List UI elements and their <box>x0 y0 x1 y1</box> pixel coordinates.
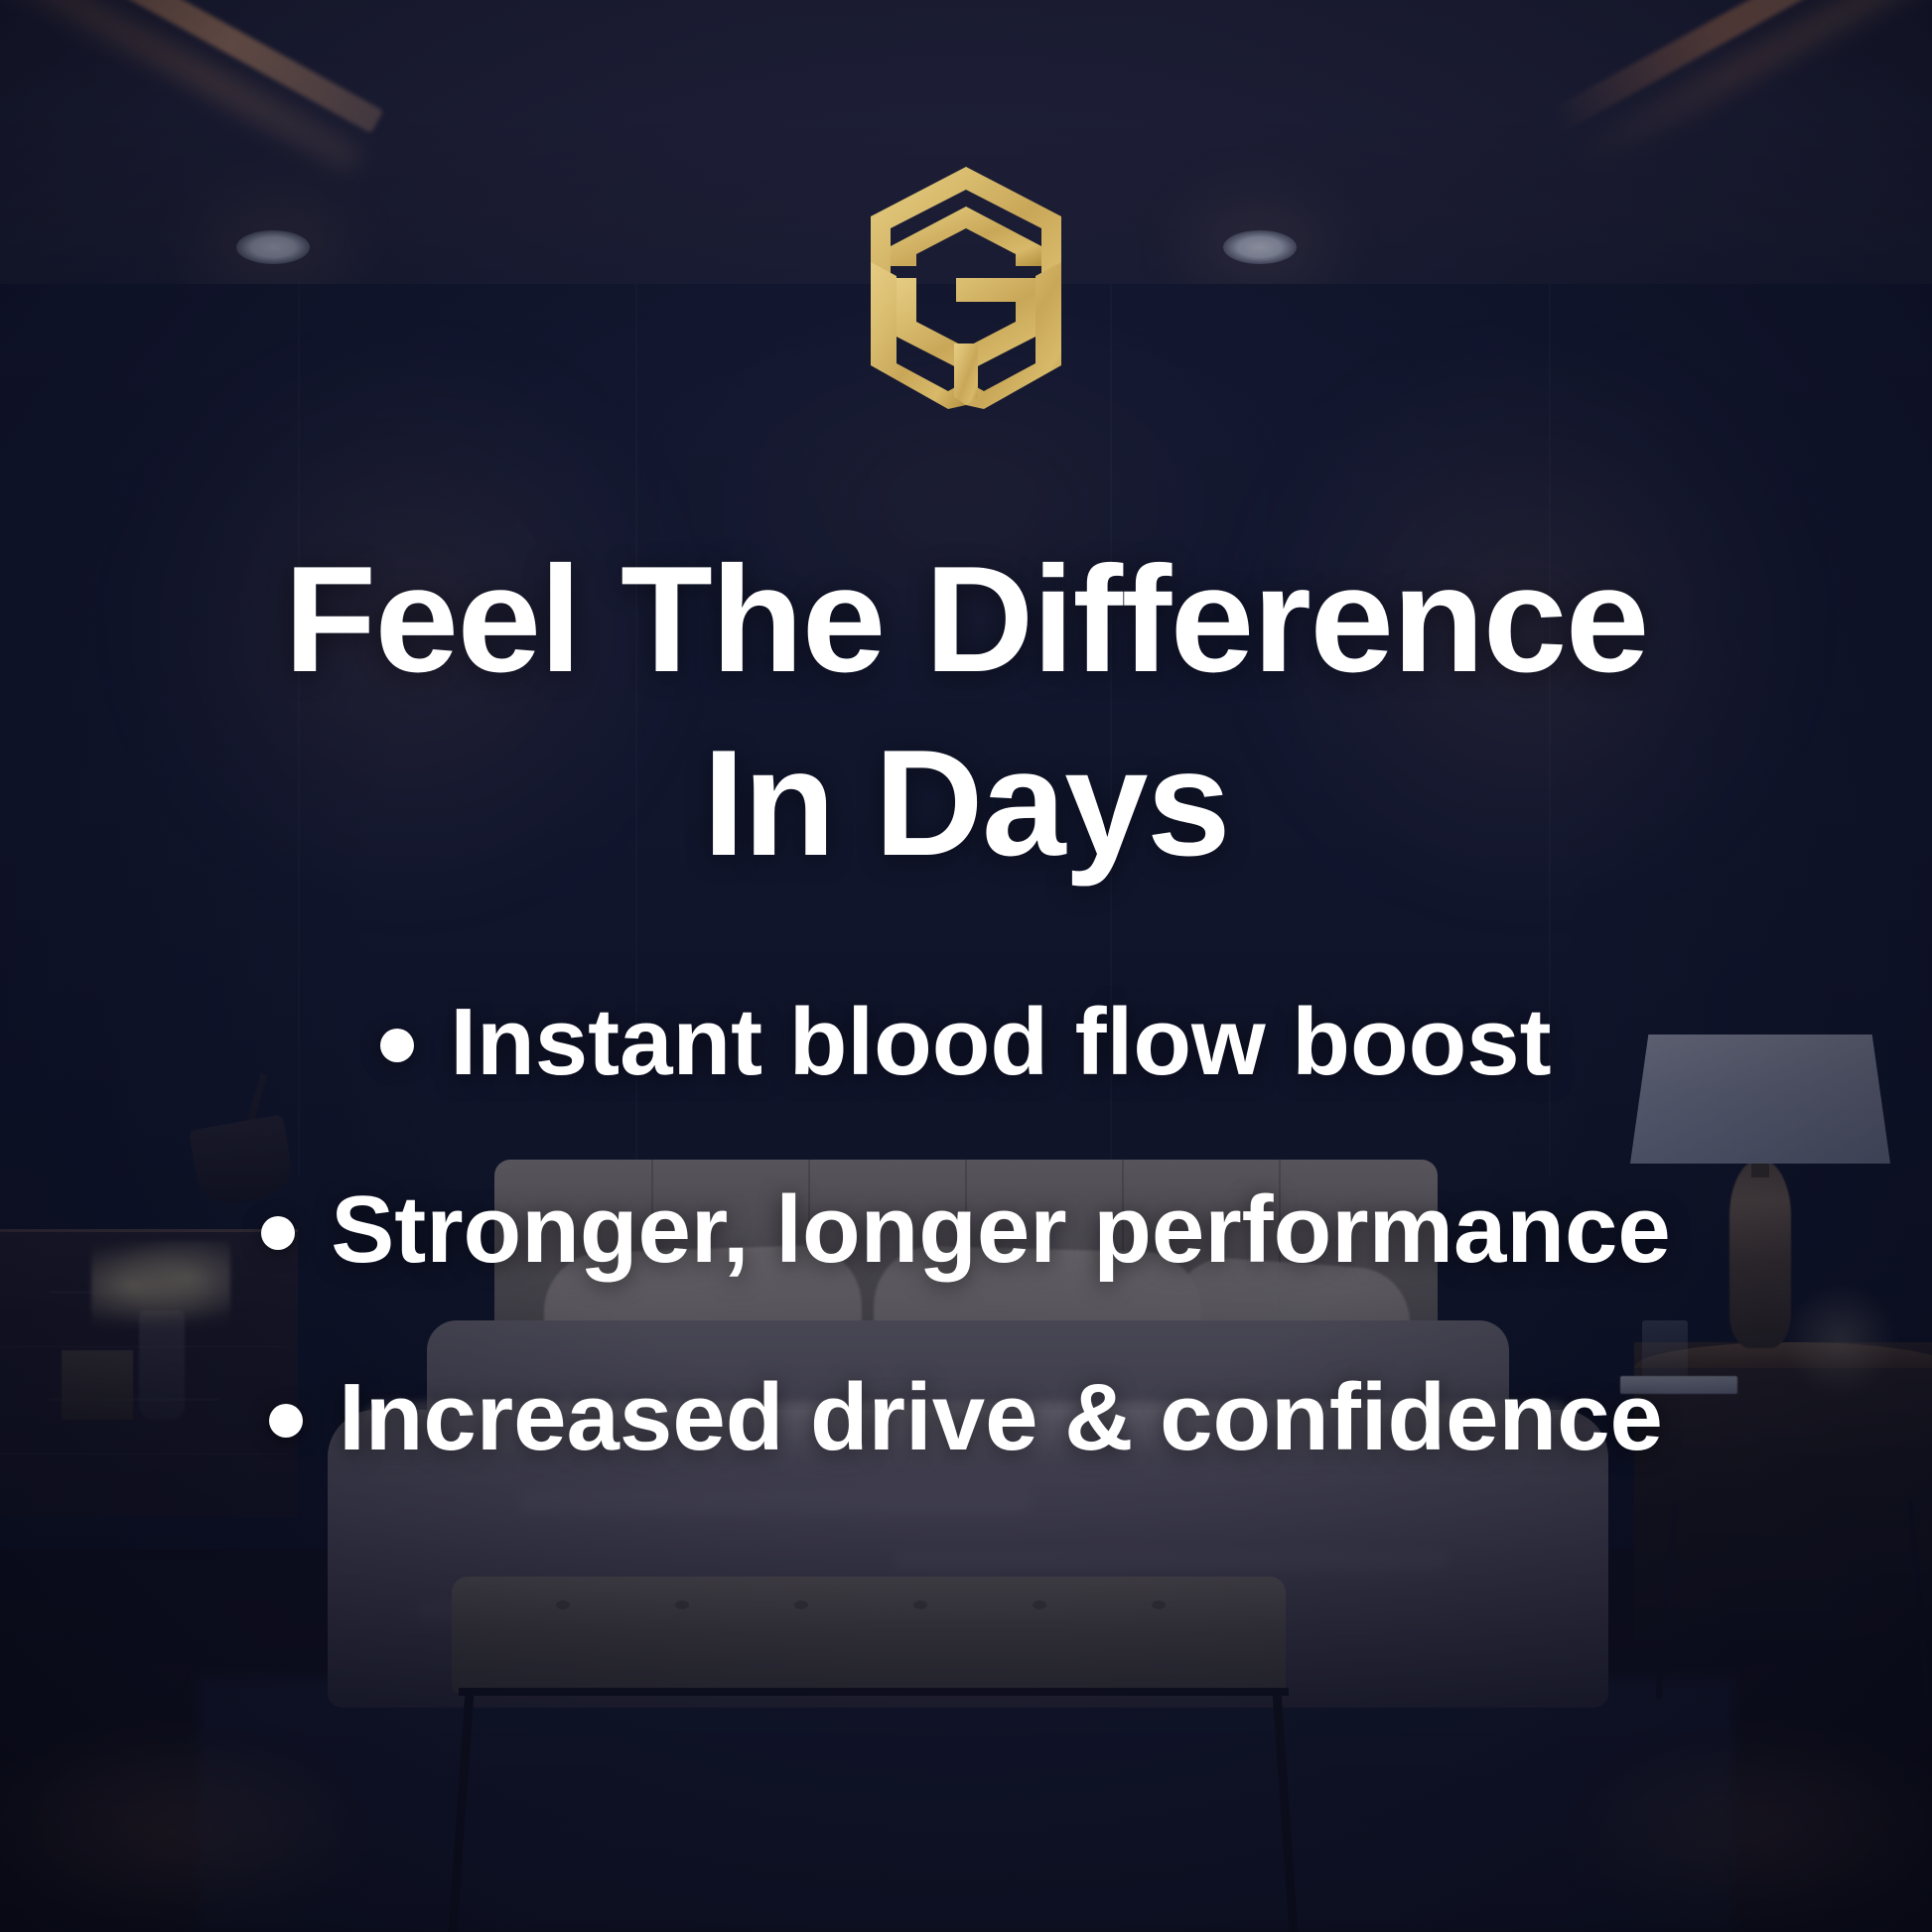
list-item: Instant blood flow boost <box>0 993 1932 1093</box>
headline-line-2: In Days <box>60 712 1872 896</box>
gw-monogram-logo <box>849 167 1083 409</box>
page-title: Feel The Difference In Days <box>60 528 1872 897</box>
brand-logo <box>0 167 1932 409</box>
benefit-text: Increased drive & confidence <box>339 1368 1663 1468</box>
bullet-dot-icon <box>380 1029 414 1062</box>
list-item: Increased drive & confidence <box>0 1368 1932 1468</box>
benefits-list: Instant blood flow boost Stronger, longe… <box>0 993 1932 1555</box>
promo-graphic: Feel The Difference In Days Instant bloo… <box>0 0 1932 1932</box>
list-item: Stronger, longer performance <box>0 1180 1932 1281</box>
bullet-dot-icon <box>269 1404 303 1438</box>
bullet-dot-icon <box>261 1216 295 1250</box>
headline-line-1: Feel The Difference <box>60 528 1872 712</box>
benefit-text: Instant blood flow boost <box>450 993 1551 1093</box>
benefit-text: Stronger, longer performance <box>331 1180 1671 1281</box>
